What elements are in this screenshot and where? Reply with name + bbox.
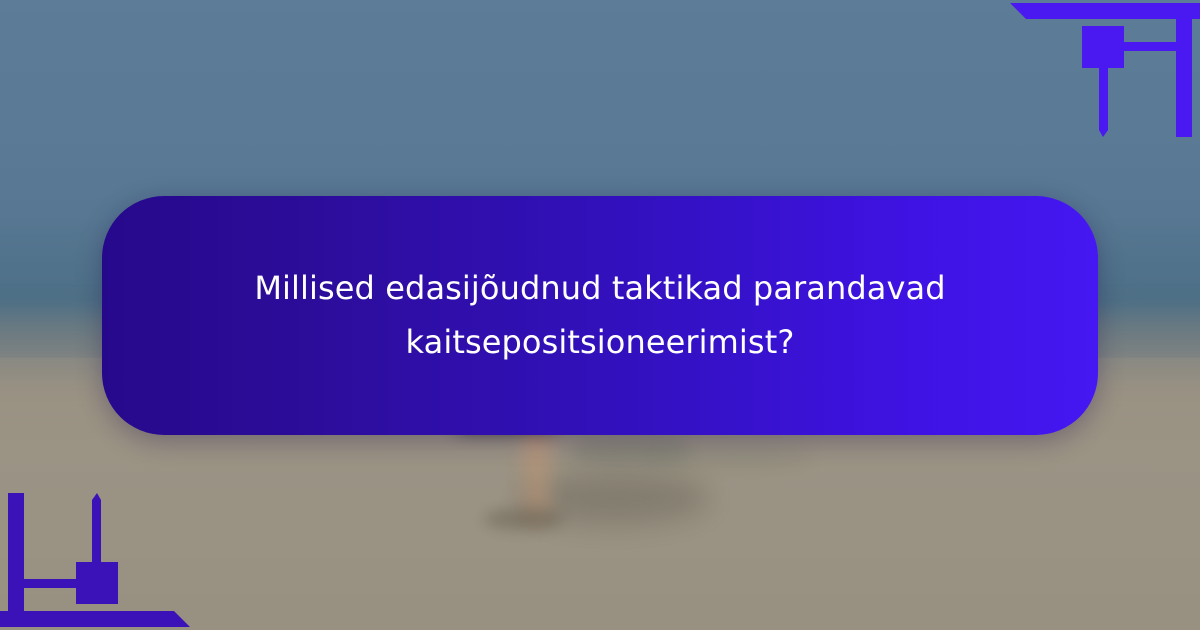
headline-banner: Millised edasijõudnud taktikad parandava…	[102, 196, 1098, 435]
corner-ornament-top-right	[1000, 0, 1200, 140]
social-card: Millised edasijõudnud taktikad parandava…	[0, 0, 1200, 630]
corner-ornament-bottom-left	[0, 490, 200, 630]
tech-bracket-icon	[0, 490, 200, 630]
figure-foot	[484, 508, 564, 530]
sand-debris-secondary	[650, 446, 810, 466]
tech-bracket-icon	[1000, 0, 1200, 140]
headline-text: Millised edasijõudnud taktikad parandava…	[170, 262, 1030, 368]
